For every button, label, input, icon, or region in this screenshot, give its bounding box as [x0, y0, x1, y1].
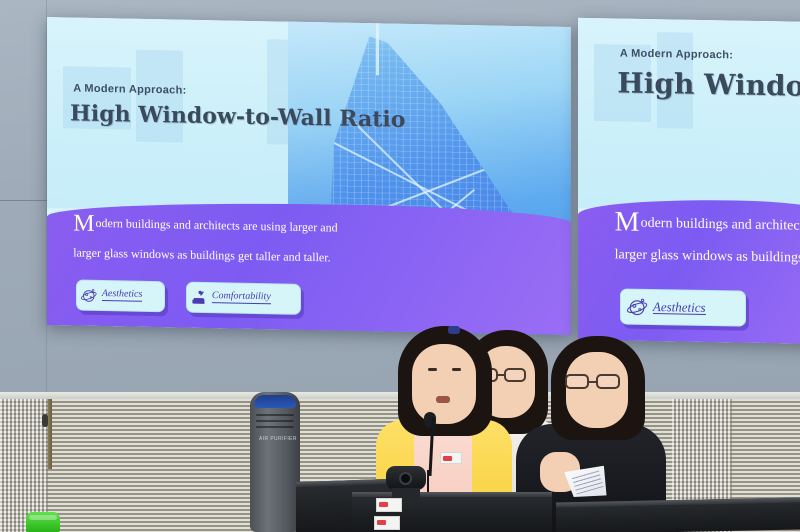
- presenter-center-glasses-bridge: [498, 374, 504, 376]
- slide-left: A Modern Approach: High Window-to-Wall R…: [47, 17, 571, 335]
- presenter-left-mouth: [436, 396, 450, 403]
- green-bin: [26, 512, 60, 532]
- monitor-center-edge: [352, 492, 552, 497]
- body-line-1-rest-right: odern buildings and architects are using…: [641, 216, 800, 236]
- projection-screen-right: A Modern Approach: High Window-to-Wall R…: [578, 18, 800, 345]
- presenter-right-glasses-bridge: [589, 381, 596, 383]
- presenter-right-glasses-right: [596, 374, 620, 389]
- monitor-right[interactable]: [556, 497, 800, 532]
- presenter-left-eye-right: [452, 368, 461, 371]
- presentation-room-scene: A Modern Approach: High Window-to-Wall R…: [0, 0, 800, 532]
- air-purifier-vent-1: [256, 414, 294, 416]
- air-purifier-label: AIR PURIFIER: [259, 436, 297, 442]
- presenter-left-eye-left: [428, 368, 437, 371]
- name-tag-2: [374, 516, 400, 530]
- badge-label-comfortability: Comfortability: [212, 292, 271, 305]
- badge-comfortability[interactable]: Comfortability: [186, 281, 301, 314]
- door-handle[interactable]: [42, 414, 48, 427]
- air-purifier-vent-3: [256, 426, 294, 428]
- badge-label-aesthetics: Aesthetics: [102, 289, 143, 301]
- name-tag-1: [376, 498, 402, 512]
- tower-mast: [376, 17, 379, 75]
- presenter-right-glasses-left: [565, 374, 589, 389]
- presenter-center-glasses-right: [504, 368, 526, 382]
- badge-label-aesthetics-right: Aesthetics: [653, 300, 706, 316]
- air-purifier-top-panel[interactable]: [254, 395, 296, 408]
- body-line-1-rest: odern buildings and architects are using…: [96, 216, 338, 235]
- slide-right: A Modern Approach: High Window-to-Wall R…: [578, 18, 800, 345]
- presenter-right-face: [566, 352, 628, 428]
- door-edge[interactable]: [48, 399, 52, 469]
- presenter-left-hair-clip: [448, 326, 460, 334]
- badge-aesthetics-right[interactable]: Aesthetics: [620, 289, 746, 327]
- slide-eyebrow: A Modern Approach:: [73, 82, 186, 96]
- webcam-lens: [399, 472, 412, 485]
- body-dropcap-right: M: [615, 207, 641, 238]
- webcam-icon[interactable]: [386, 466, 426, 490]
- slide-eyebrow-right: A Modern Approach:: [620, 47, 733, 61]
- presenter-left-face: [412, 344, 476, 424]
- body-dropcap: M: [73, 211, 95, 237]
- name-tag-3: [440, 452, 462, 464]
- bubble-sphere-icon: [81, 286, 98, 303]
- bubble-sphere-icon: [627, 296, 649, 318]
- person-sofa-icon: [191, 288, 208, 305]
- air-purifier[interactable]: AIR PURIFIER: [250, 392, 300, 532]
- projection-screen-left: A Modern Approach: High Window-to-Wall R…: [47, 17, 571, 335]
- note-card-lines: [572, 470, 604, 495]
- air-purifier-vent-2: [256, 420, 294, 422]
- badge-aesthetics[interactable]: Aesthetics: [76, 279, 165, 312]
